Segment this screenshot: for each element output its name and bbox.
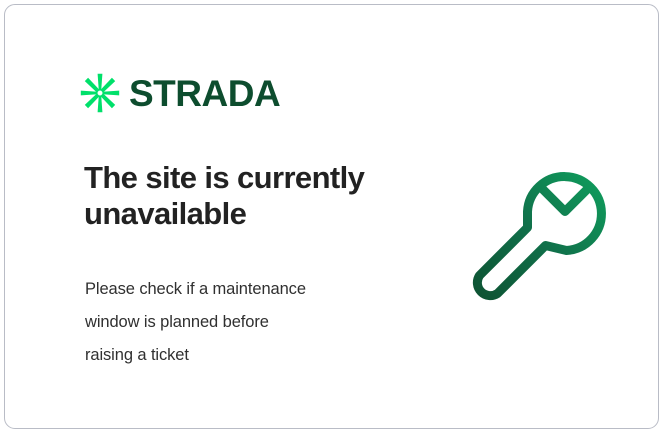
description-line: raising a ticket	[85, 339, 405, 372]
description-line: Please check if a maintenance	[85, 273, 405, 306]
wrench-icon	[457, 153, 627, 323]
page-description: Please check if a maintenance window is …	[85, 273, 405, 372]
description-line: window is planned before	[85, 306, 405, 339]
strada-asterisk-icon	[80, 73, 120, 113]
brand-wordmark: STRADA	[129, 75, 280, 112]
error-page: STRADA The site is currently unavailable…	[0, 0, 666, 436]
page-title: The site is currently unavailable	[84, 160, 414, 232]
maintenance-card: STRADA The site is currently unavailable…	[4, 4, 659, 429]
brand-lockup: STRADA	[80, 73, 280, 113]
